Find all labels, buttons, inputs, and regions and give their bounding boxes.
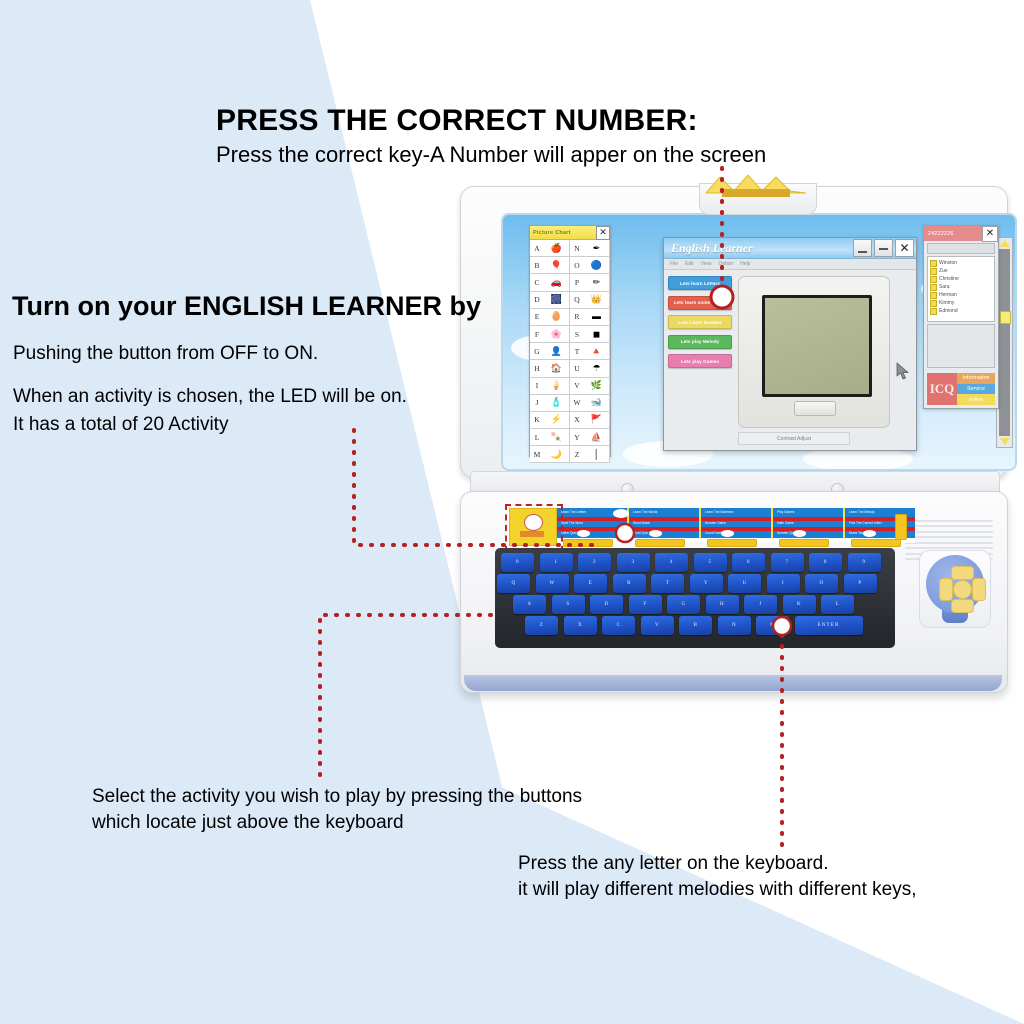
icq-tag-button[interactable]: Information [957,373,995,384]
activity-button-list: Lets learn LettersLets learn some WordsL… [668,276,732,368]
activity-strip-label: Play Games [777,510,794,514]
icq-message-area [927,324,995,368]
activity-button[interactable]: Lets Learn Number [668,315,732,329]
menu-item-file[interactable]: File [670,261,678,267]
dpad-right-button[interactable] [972,578,986,601]
window-controls: ✕ [853,239,916,257]
picture-chart-icon: 🎆 [544,295,569,304]
picture-chart-letter: O [570,261,584,270]
key-p[interactable]: P [844,574,877,593]
picture-chart-cell[interactable]: Q👑 [570,292,610,309]
picture-chart-icon: 🍎 [544,244,569,253]
laptop-lid: Picture Chart ✕ A🍎N✒B🎈O🔵C🚗P✏D🎆Q👑E🥚R▬F🌸S◼… [460,186,1008,478]
key-z[interactable]: Z [525,616,558,635]
english-learner-window[interactable]: English Learner ✕ FileEditViewOptionHelp… [663,237,917,451]
picture-chart-letter: P [570,278,584,287]
picture-chart-letter: Y [570,433,584,442]
picture-chart-icon: 🔵 [584,261,609,270]
picture-chart-letter: D [530,295,544,304]
picture-chart-icon: ⛵ [584,433,609,442]
picture-chart-cell[interactable]: W🐋 [570,395,610,412]
picture-chart-cell[interactable]: T🔺 [570,343,610,360]
picture-chart-grid: A🍎N✒B🎈O🔵C🚗P✏D🎆Q👑E🥚R▬F🌸S◼G👤T🔺H🏠U☂I🍦V🌿J🧴W🐋… [530,240,610,463]
picture-chart-cell[interactable]: J🧴 [530,395,570,412]
key-s[interactable]: S [552,595,585,614]
turn-on-title: Turn on your ENGLISH LEARNER by [12,291,481,322]
english-learner-menubar[interactable]: FileEditViewOptionHelp [664,259,916,270]
picture-chart-icon: ✏ [584,278,609,287]
icq-contact[interactable]: Winston [930,259,994,267]
picture-chart-icon: 👑 [584,295,609,304]
picture-chart-cell[interactable]: H🏠 [530,360,570,377]
picture-chart-icon: │ [584,450,609,459]
picture-chart-icon: ⚡ [544,415,569,424]
activity-strip-label: Spell The Word [561,521,583,525]
picture-chart-icon: 🧴 [544,398,569,407]
key-7[interactable]: 7 [771,553,804,572]
menu-item-option[interactable]: Option [718,261,733,267]
key-c[interactable]: C [602,616,635,635]
icq-contact[interactable]: Herman [930,291,994,299]
maximize-button[interactable] [874,239,893,257]
contact-status-icon [930,260,937,267]
picture-chart-letter: A [530,244,544,253]
picture-chart-icon: ☂ [584,364,609,373]
icq-contact[interactable]: Edmond [930,307,994,315]
picture-chart-icon: 🎈 [544,261,569,270]
picture-chart-letter: F [530,330,544,339]
select-activity-line-1: Select the activity you wish to play by … [92,786,582,808]
picture-chart-window[interactable]: Picture Chart ✕ A🍎N✒B🎈O🔵C🚗P✏D🎆Q👑E🥚R▬F🌸S◼… [529,225,611,457]
key-1[interactable]: 1 [540,553,573,572]
picture-chart-icon: 🌸 [544,330,569,339]
picture-chart-cell[interactable]: O🔵 [570,257,610,274]
activity-strip-label: Learn The Melody [849,510,875,514]
key-w[interactable]: W [536,574,569,593]
lcd-knob[interactable] [794,401,836,416]
contact-name: Sara [939,284,950,290]
key-h[interactable]: H [706,595,739,614]
key-4[interactable]: 4 [655,553,688,572]
dpad-center-button[interactable] [953,580,972,599]
press-number-subtitle: Press the correct key-A Number will appe… [216,142,766,168]
picture-chart-cell[interactable]: X🚩 [570,412,610,429]
dpad-left-button[interactable] [939,578,953,601]
menu-item-edit[interactable]: Edit [685,261,694,267]
picture-chart-cell[interactable]: M🌙 [530,446,570,463]
picture-chart-letter: I [530,381,544,390]
activity-strip-label: Number Game [705,521,726,525]
contrast-adjust-label: Contrast Adjust [777,436,811,442]
picture-chart-cell[interactable]: I🍦 [530,378,570,395]
picture-chart-icon: 🔺 [584,347,609,356]
icq-tag-button[interactable]: Service [957,384,995,395]
activity-strip-label: Number Quiz [777,531,796,535]
key-t[interactable]: T [651,574,684,593]
picture-chart-letter: B [530,261,544,270]
picture-chart-cell[interactable]: D🎆 [530,292,570,309]
key-l[interactable]: L [821,595,854,614]
picture-chart-cell[interactable]: F🌸 [530,326,570,343]
picture-chart-icon: 🏠 [544,364,569,373]
picture-chart-cell[interactable]: C🚗 [530,274,570,291]
contact-name: Kimmy [939,300,954,306]
key-q[interactable]: Q [497,574,530,593]
menu-item-help[interactable]: Help [740,261,750,267]
contact-status-icon [930,308,937,315]
laptop-screen: Picture Chart ✕ A🍎N✒B🎈O🔵C🚗P✏D🎆Q👑E🥚R▬F🌸S◼… [501,213,1017,471]
activity-strip-label: Learn The Letters [561,510,586,514]
key-3[interactable]: 3 [617,553,650,572]
key-i[interactable]: I [767,574,800,593]
contact-status-icon [930,268,937,275]
picture-chart-letter: L [530,433,544,442]
turn-on-line-3: It has a total of 20 Activity [13,414,228,436]
picture-chart-letter: M [530,450,544,459]
keyboard[interactable]: 0123456789QWERTYUIOPASDFGHJKLZXCVBNMENTE… [495,548,895,648]
key-a[interactable]: A [513,595,546,614]
minimize-button[interactable] [853,239,872,257]
picture-chart-icon: 🍦 [544,381,569,390]
device-preview-panel [738,276,890,428]
key-u[interactable]: U [728,574,761,593]
picture-chart-letter: E [530,312,544,321]
key-g[interactable]: G [667,595,700,614]
key-enter[interactable]: ENTER [795,616,863,635]
picture-chart-cell[interactable]: S◼ [570,326,610,343]
scroll-up-icon[interactable] [1000,240,1010,247]
key-n[interactable]: N [718,616,751,635]
power-switch-highlight [505,504,563,552]
icq-contact[interactable]: Zue [930,267,994,275]
picture-chart-icon: 🥚 [544,312,569,321]
activity-strip-label: Word Match [633,521,650,525]
picture-chart-cell[interactable]: G👤 [530,343,570,360]
picture-chart-titlebar: Picture Chart ✕ [530,226,610,240]
english-learner-title: English Learner [664,241,753,256]
icq-toolbar [927,243,995,254]
key-0[interactable]: 0 [501,553,534,572]
icq-window[interactable]: 24222226 ✕ WinstonZueChristineSaraHerman… [923,225,999,409]
picture-chart-cell[interactable]: E🥚 [530,309,570,326]
key-f[interactable]: F [629,595,662,614]
activity-strip-label: Find The Correct Letter [849,521,882,525]
english-learner-titlebar: English Learner ✕ [664,238,916,259]
lid-latch-icon [704,173,808,197]
key-d[interactable]: D [590,595,623,614]
volume-slider[interactable] [895,514,907,540]
picture-chart-icon: 🍡 [544,433,569,442]
icq-tag-buttons: InformationServiceonline [957,373,995,405]
contact-status-icon [930,284,937,291]
contact-name: Christine [939,276,959,282]
key-m[interactable]: M [756,616,789,635]
toy-laptop: Picture Chart ✕ A🍎N✒B🎈O🔵C🚗P✏D🎆Q👑E🥚R▬F🌸S◼… [437,175,1017,705]
picture-chart-cell[interactable]: U☂ [570,360,610,377]
icq-logo: ICQ [927,373,957,405]
picture-chart-icon: 👤 [544,347,569,356]
picture-chart-letter: J [530,398,544,407]
picture-chart-letter: X [570,415,584,424]
infographic-canvas: Picture Chart ✕ A🍎N✒B🎈O🔵C🚗P✏D🎆Q👑E🥚R▬F🌸S◼… [0,0,1024,1024]
menu-item-view[interactable]: View [701,261,712,267]
key-v[interactable]: V [641,616,674,635]
key-2[interactable]: 2 [578,553,611,572]
activity-strip-label: Learn The Words [633,510,658,514]
icq-contact[interactable]: Kimmy [930,299,994,307]
picture-chart-cell[interactable]: V🌿 [570,378,610,395]
key-5[interactable]: 5 [694,553,727,572]
laptop-base: Learn The LettersLearn The WordsLearn Th… [460,491,1008,693]
activity-button[interactable]: Lets learn Letters [668,276,732,290]
picture-chart-letter: N [570,244,584,253]
key-j[interactable]: J [744,595,777,614]
contact-name: Winston [939,260,957,266]
key-8[interactable]: 8 [809,553,842,572]
icq-titlebar: 24222226 ✕ [924,226,998,241]
picture-chart-close-icon[interactable]: ✕ [596,226,610,240]
key-6[interactable]: 6 [732,553,765,572]
key-r[interactable]: R [613,574,646,593]
scroll-down-icon[interactable] [1000,438,1010,445]
contact-name: Edmond [939,308,958,314]
picture-chart-cell[interactable]: P✏ [570,274,610,291]
press-number-title: PRESS THE CORRECT NUMBER: [216,104,698,138]
icq-contact[interactable]: Christine [930,275,994,283]
turn-on-line-1: Pushing the button from OFF to ON. [13,343,318,365]
dpad[interactable] [939,566,983,610]
picture-chart-letter: G [530,347,544,356]
press-letter-line-1: Press the any letter on the keyboard. [518,853,829,875]
scrollbar-thumb[interactable] [1000,311,1011,324]
picture-chart-cell[interactable]: Z│ [570,446,610,463]
picture-chart-letter: T [570,347,584,356]
activity-strip-label: Music Tone [849,531,865,535]
picture-chart-letter: U [570,364,584,373]
close-icon[interactable]: ✕ [895,239,914,257]
dpad-up-button[interactable] [951,566,974,580]
key-y[interactable]: Y [690,574,723,593]
picture-chart-letter: V [570,381,584,390]
scrollbar-track[interactable] [999,249,1010,436]
picture-chart-cell[interactable]: B🎈 [530,257,570,274]
picture-chart-cell[interactable]: Y⛵ [570,429,610,446]
contact-name: Zue [939,268,948,274]
trackball-base[interactable] [926,555,984,613]
press-letter-line-2: it will play different melodies with dif… [518,879,916,901]
lcd-display [762,295,872,397]
icq-footer: ICQ InformationServiceonline [927,373,995,405]
contact-status-icon [930,300,937,307]
picture-chart-cell[interactable]: L🍡 [530,429,570,446]
picture-chart-letter: H [530,364,544,373]
key-b[interactable]: B [679,616,712,635]
activity-strip-label: Learn The Numbers [705,510,733,514]
picture-chart-letter: R [570,312,584,321]
picture-chart-cell[interactable]: N✒ [570,240,610,257]
activity-strip-label: Count Number [705,531,726,535]
icq-close-icon[interactable]: ✕ [982,226,998,242]
icq-contact-list[interactable]: WinstonZueChristineSaraHermanKimmyEdmond [927,256,995,322]
picture-chart-title: Picture Chart [530,230,571,236]
activity-button[interactable]: Lets play Games [668,354,732,368]
picture-chart-icon: ✒ [584,244,609,253]
picture-chart-cell[interactable]: K⚡ [530,412,570,429]
dpad-down-button[interactable] [951,599,974,613]
picture-chart-icon: 🚩 [584,415,609,424]
activity-strip-label: Math Game [777,521,794,525]
picture-chart-letter: K [530,415,544,424]
activity-strip-label: Word Quiz [633,531,648,535]
activity-button[interactable]: Lets play Melody [668,335,732,349]
key-9[interactable]: 9 [848,553,881,572]
picture-chart-letter: Q [570,295,584,304]
picture-chart-icon: ◼ [584,330,609,339]
activity-button-strip[interactable]: Learn The LettersLearn The WordsLearn Th… [505,508,915,543]
activity-strip-label: Letter Quiz [561,531,577,535]
turn-on-line-2: When an activity is chosen, the LED will… [13,386,407,408]
contact-status-icon [930,292,937,299]
icq-number: 24222226 [924,231,954,237]
icq-contact[interactable]: Sara [930,283,994,291]
picture-chart-icon: 🌿 [584,381,609,390]
picture-chart-cell[interactable]: A🍎 [530,240,570,257]
picture-chart-icon: ▬ [584,312,609,321]
key-x[interactable]: X [564,616,597,635]
picture-chart-icon: 🐋 [584,398,609,407]
activity-button[interactable]: Lets learn some Words [668,296,732,310]
picture-chart-letter: S [570,330,584,339]
picture-chart-icon: 🌙 [544,450,569,459]
english-learner-body: Lets learn LettersLets learn some WordsL… [664,270,916,451]
key-k[interactable]: K [783,595,816,614]
key-o[interactable]: O [805,574,838,593]
laptop-base-lip [464,675,1002,691]
icq-tag-button[interactable]: online [957,394,995,405]
picture-chart-icon: 🚗 [544,278,569,287]
contrast-adjust-bar[interactable]: Contrast Adjust [738,432,850,445]
picture-chart-letter: C [530,278,544,287]
key-e[interactable]: E [574,574,607,593]
picture-chart-cell[interactable]: R▬ [570,309,610,326]
picture-chart-letter: W [570,398,584,407]
select-activity-line-2: which locate just above the keyboard [92,812,404,834]
contact-status-icon [930,276,937,283]
picture-chart-letter: Z [570,450,584,459]
trackball-housing [919,550,991,628]
mouse-cursor-icon [896,362,910,380]
contact-name: Herman [939,292,957,298]
